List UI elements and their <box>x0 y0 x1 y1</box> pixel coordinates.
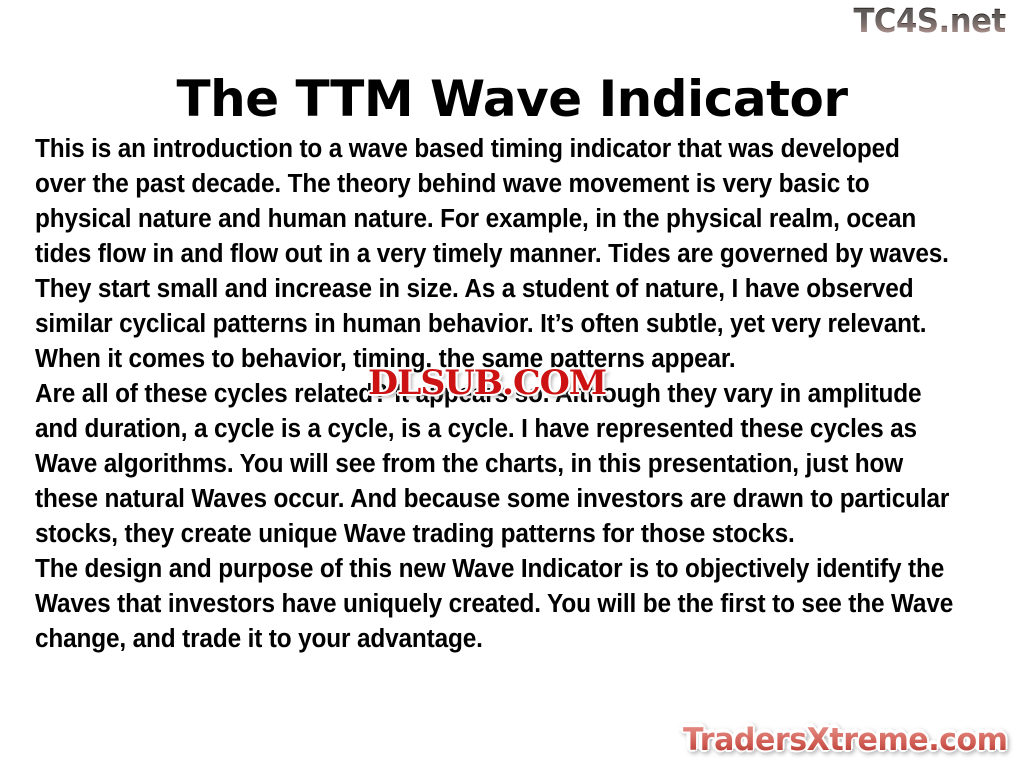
paragraph-3: The design and purpose of this new Wave … <box>35 552 957 657</box>
slide-canvas: TC4S.net The TTM Wave Indicator This is … <box>0 0 1024 768</box>
dlsub-watermark: DLSUB.COM <box>368 364 606 402</box>
paragraph-2: Are all of these cycles related? It appe… <box>35 377 957 552</box>
tradersxtreme-brand-logo: TradersXtreme.com <box>684 722 1008 758</box>
tc4s-brand-logo: TC4S.net <box>854 4 1006 37</box>
paragraph-1: This is an introduction to a wave based … <box>35 132 957 377</box>
page-title: The TTM Wave Indicator <box>0 70 1024 128</box>
